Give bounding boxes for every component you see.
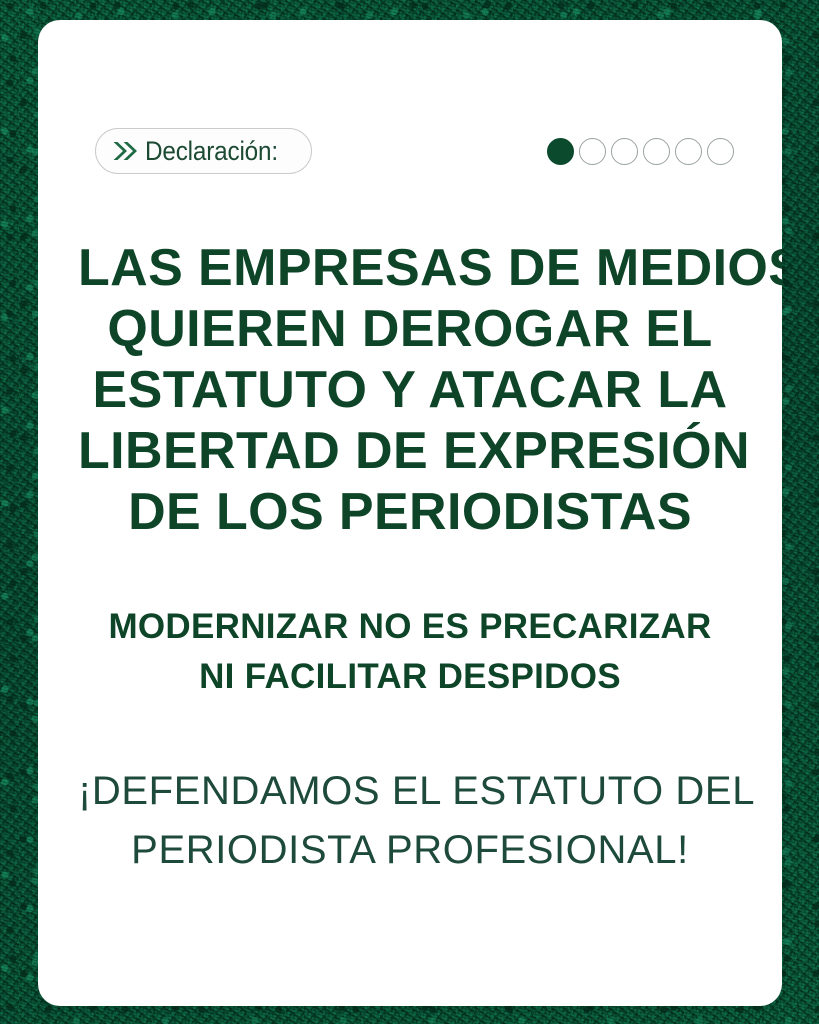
social-post-slide: Declaración: LAS EMPRESAS DE MEDIOS QUIE… [0, 0, 819, 1024]
pagination-dot-3[interactable] [611, 138, 638, 165]
subheadline-highlighted-text-2: NI FACILITAR DESPIDOS [199, 652, 621, 702]
headline-line-3: ESTATUTO Y ATACAR LA [78, 360, 742, 421]
white-content-card: Declaración: LAS EMPRESAS DE MEDIOS QUIE… [38, 20, 782, 1006]
pagination-dot-4[interactable] [643, 138, 670, 165]
pagination-dots[interactable] [547, 138, 734, 165]
declaration-badge-label: Declaración: [145, 136, 278, 167]
closing-line-1: ¡DEFENDAMOS EL ESTATUTO DEL [78, 762, 742, 821]
declaration-badge[interactable]: Declaración: [95, 128, 312, 174]
subheadline-plain-text: MODERNIZAR [108, 607, 358, 646]
pagination-dot-6[interactable] [707, 138, 734, 165]
subheadline-line-2: NI FACILITAR DESPIDOS [78, 652, 742, 702]
pagination-dot-2[interactable] [579, 138, 606, 165]
headline-line-5: DE LOS PERIODISTAS [78, 482, 742, 543]
double-chevron-right-icon [112, 141, 138, 161]
card-header-row: Declaración: [95, 126, 734, 176]
pagination-dot-5[interactable] [675, 138, 702, 165]
headline-line-2: QUIEREN DEROGAR EL [78, 299, 742, 360]
subheadline-line-1: MODERNIZAR NO ES PRECARIZAR [78, 602, 742, 652]
pagination-dot-1[interactable] [547, 138, 574, 165]
headline-line-1: LAS EMPRESAS DE MEDIOS [78, 238, 742, 299]
closing-line-2: PERIODISTA PROFESIONAL! [78, 821, 742, 880]
headline-line-4: LIBERTAD DE EXPRESIÓN [78, 421, 742, 482]
headline: LAS EMPRESAS DE MEDIOS QUIEREN DEROGAR E… [78, 238, 742, 543]
subheadline: MODERNIZAR NO ES PRECARIZAR NI FACILITAR… [78, 602, 742, 702]
subheadline-highlighted-text-1: NO ES PRECARIZAR [359, 602, 712, 652]
closing-call-to-action: ¡DEFENDAMOS EL ESTATUTO DEL PERIODISTA P… [78, 762, 742, 880]
